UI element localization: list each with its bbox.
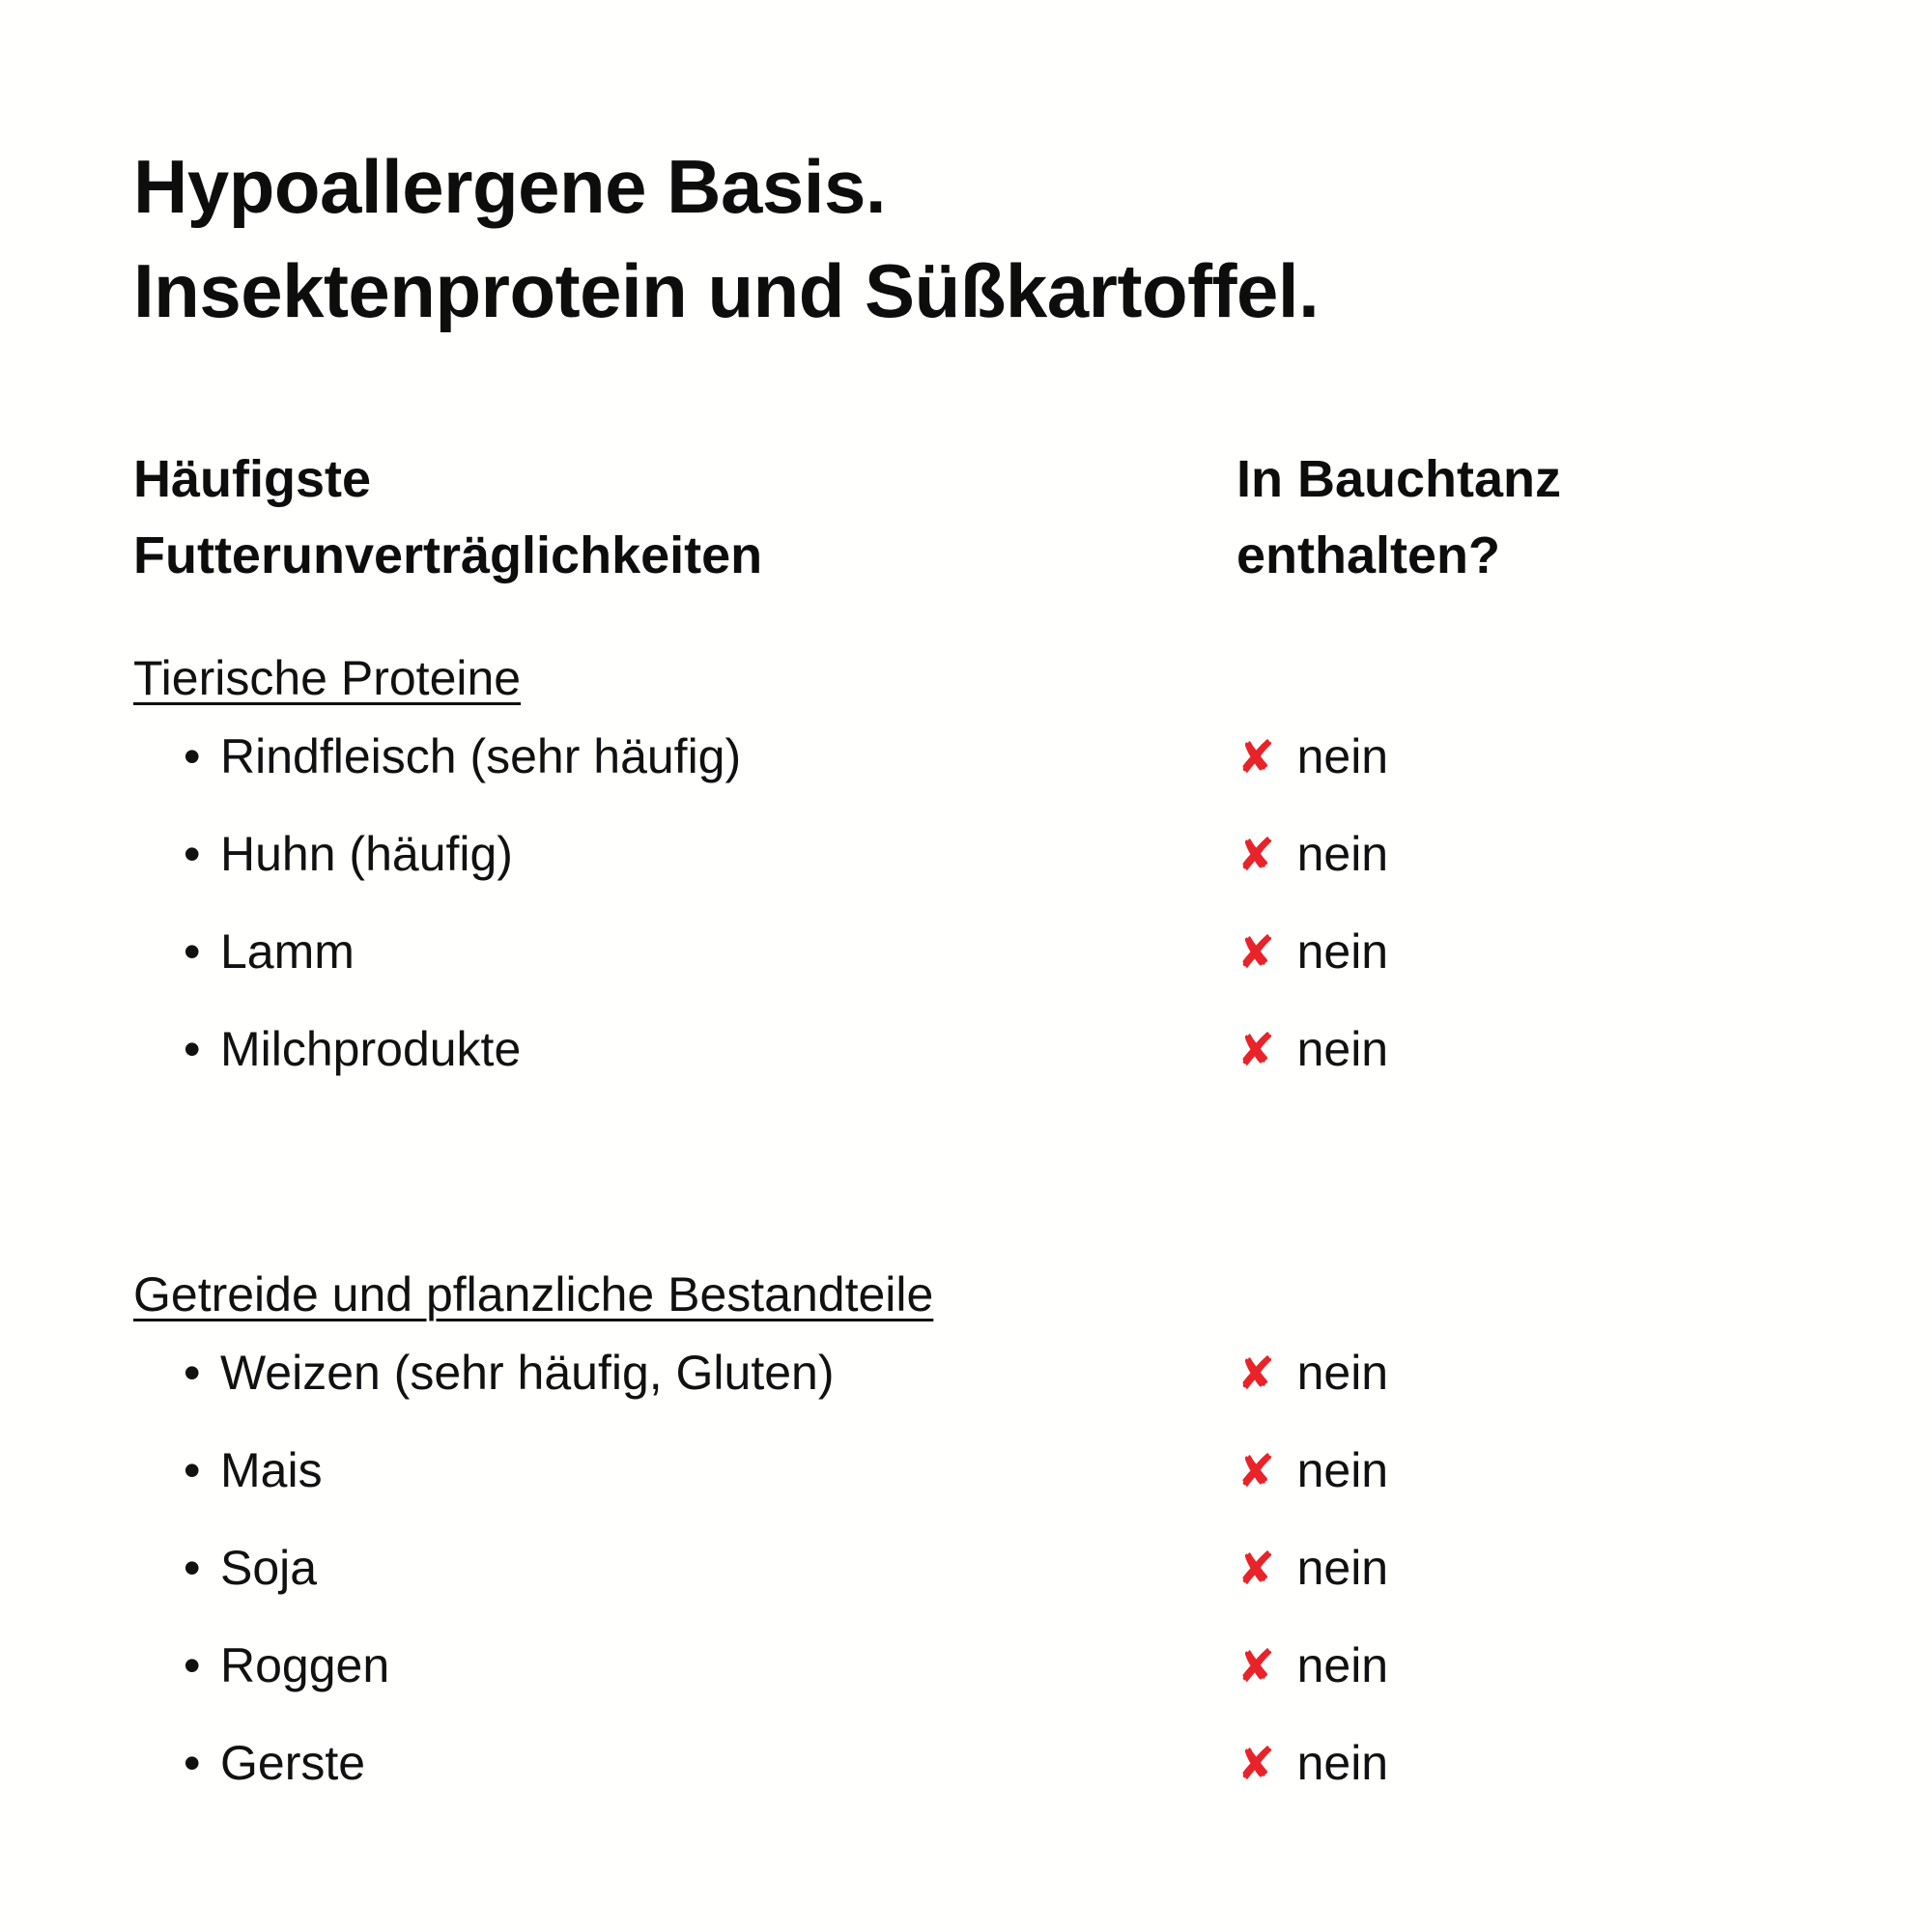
bullet-icon: • [184,732,220,781]
column-header-intolerances-line-2: Futterunverträglichkeiten [133,518,1236,593]
answer-label: nein [1297,1025,1389,1073]
table-row: • Weizen (sehr häufig, Gluten) ✘ nein [133,1349,1816,1446]
row-group-animal-proteins: • Rindfleisch (sehr häufig) ✘ nein • Huh… [133,732,1816,1122]
list-item: • Soja [133,1544,1237,1592]
bullet-icon: • [184,1641,220,1690]
row-group-grains-plants: • Weizen (sehr häufig, Gluten) ✘ nein • … [133,1349,1816,1836]
table-row: • Huhn (häufig) ✘ nein [133,830,1816,927]
list-item-label: Soja [220,1544,317,1592]
table-row: • Mais ✘ nein [133,1446,1816,1544]
list-item-label: Lamm [220,927,355,976]
list-item-label: Milchprodukte [220,1025,521,1073]
cross-icon: ✘ [1237,1643,1297,1689]
column-header-contained-line-1: In Bauchtanz [1236,441,1816,517]
table-row: • Milchprodukte ✘ nein [133,1025,1816,1122]
answer-label: nein [1297,1641,1389,1690]
list-item: • Lamm [133,927,1237,976]
answer-cell: ✘ nein [1237,1544,1816,1592]
list-item-label: Gerste [220,1739,365,1787]
column-header-contained: In Bauchtanz enthalten? [1236,441,1816,593]
bullet-icon: • [184,1446,220,1494]
section-title-grains-plants: Getreide und pflanzliche Bestandteile [133,1265,1816,1323]
answer-label: nein [1297,1446,1389,1494]
section-title-animal-proteins: Tierische Proteine [133,649,1816,707]
answer-cell: ✘ nein [1237,732,1816,781]
table-row: • Soja ✘ nein [133,1544,1816,1641]
list-item-label: Roggen [220,1641,389,1690]
list-item: • Rindfleisch (sehr häufig) [133,732,1237,781]
table-row: • Lamm ✘ nein [133,927,1816,1025]
section-animal-proteins: Tierische Proteine • Rindfleisch (sehr h… [133,649,1816,1122]
cross-icon: ✘ [1237,734,1297,780]
cross-icon: ✘ [1237,1741,1297,1786]
answer-label: nein [1297,732,1389,781]
list-item: • Weizen (sehr häufig, Gluten) [133,1349,1237,1397]
answer-cell: ✘ nein [1237,1446,1816,1494]
answer-cell: ✘ nein [1237,927,1816,976]
bullet-icon: • [184,830,220,878]
bullet-icon: • [184,927,220,976]
list-item-label: Rindfleisch (sehr häufig) [220,732,741,781]
list-item-label: Mais [220,1446,323,1494]
answer-cell: ✘ nein [1237,1739,1816,1787]
bullet-icon: • [184,1544,220,1592]
answer-cell: ✘ nein [1237,1349,1816,1397]
list-item-label: Huhn (häufig) [220,830,513,878]
answer-cell: ✘ nein [1237,830,1816,878]
answer-label: nein [1297,1349,1389,1397]
page-title: Hypoallergene Basis. Insektenprotein und… [133,135,1816,343]
answer-cell: ✘ nein [1237,1025,1816,1073]
column-header-intolerances-line-1: Häufigste [133,441,1236,517]
bullet-icon: • [184,1025,220,1073]
list-item: • Milchprodukte [133,1025,1237,1073]
cross-icon: ✘ [1237,1027,1297,1072]
answer-label: nein [1297,1739,1389,1787]
list-item: • Roggen [133,1641,1237,1690]
infographic-page: Hypoallergene Basis. Insektenprotein und… [0,0,1932,1932]
answer-cell: ✘ nein [1237,1641,1816,1690]
table-row: • Rindfleisch (sehr häufig) ✘ nein [133,732,1816,830]
cross-icon: ✘ [1237,1448,1297,1493]
cross-icon: ✘ [1237,1546,1297,1591]
bullet-icon: • [184,1349,220,1397]
table-column-headers: Häufigste Futterunverträglichkeiten In B… [133,441,1816,593]
list-item-label: Weizen (sehr häufig, Gluten) [220,1349,835,1397]
column-header-intolerances: Häufigste Futterunverträglichkeiten [133,441,1236,593]
cross-icon: ✘ [1237,929,1297,975]
table-row: • Gerste ✘ nein [133,1739,1816,1836]
section-grains-plants: Getreide und pflanzliche Bestandteile • … [133,1265,1816,1836]
answer-label: nein [1297,830,1389,878]
cross-icon: ✘ [1237,832,1297,877]
page-title-line-2: Insektenprotein und Süßkartoffel. [133,240,1816,344]
answer-label: nein [1297,927,1389,976]
answer-label: nein [1297,1544,1389,1592]
list-item: • Mais [133,1446,1237,1494]
list-item: • Gerste [133,1739,1237,1787]
table-row: • Roggen ✘ nein [133,1641,1816,1739]
cross-icon: ✘ [1237,1350,1297,1396]
list-item: • Huhn (häufig) [133,830,1237,878]
page-title-line-1: Hypoallergene Basis. [133,135,1816,240]
column-header-contained-line-2: enthalten? [1236,518,1816,593]
bullet-icon: • [184,1739,220,1787]
